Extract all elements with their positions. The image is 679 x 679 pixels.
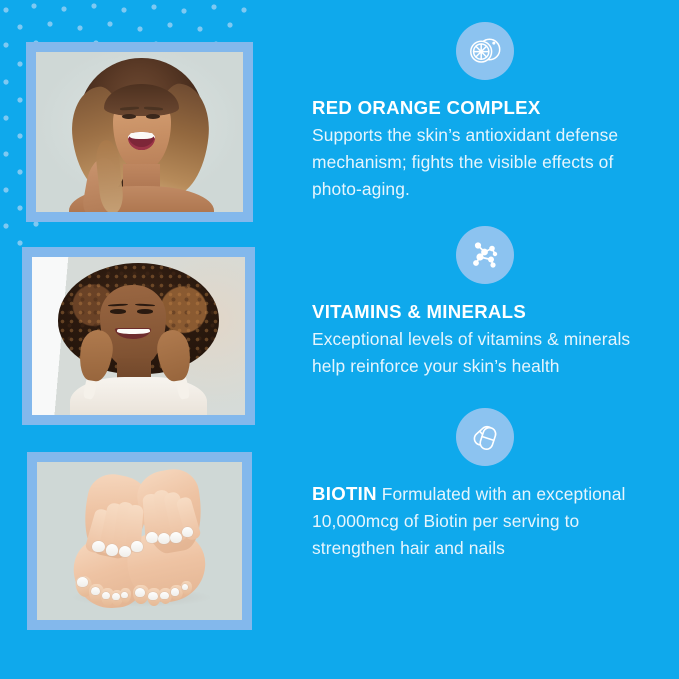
product-benefits-infographic: RED ORANGE COMPLEXSupports the skin’s an… bbox=[0, 0, 679, 679]
benefit-text-2: VITAMINS & MINERALS Exceptional levels o… bbox=[290, 298, 679, 380]
benefit-text-3: BIOTIN Formulated with an exceptional 10… bbox=[290, 480, 679, 562]
benefit-title-1: RED ORANGE COMPLEX bbox=[312, 94, 661, 121]
benefit-body-2: Exceptional levels of vitamins & mineral… bbox=[312, 329, 630, 376]
photo-frame-2 bbox=[22, 247, 255, 425]
benefit-body-1: Supports the skin’s antioxidant defense … bbox=[312, 125, 618, 199]
benefits-column: RED ORANGE COMPLEXSupports the skin’s an… bbox=[290, 0, 679, 679]
benefit-block-vitamins-minerals: VITAMINS & MINERALS Exceptional levels o… bbox=[290, 226, 679, 380]
photo-hands-and-feet bbox=[37, 462, 242, 620]
benefit-title-3: BIOTIN bbox=[312, 483, 377, 504]
benefit-block-biotin: BIOTIN Formulated with an exceptional 10… bbox=[290, 408, 679, 562]
photo-frame-3 bbox=[27, 452, 252, 630]
benefit-block-red-orange-complex: RED ORANGE COMPLEXSupports the skin’s an… bbox=[290, 22, 679, 203]
benefit-title-2: VITAMINS & MINERALS bbox=[312, 298, 661, 325]
molecule-icon bbox=[456, 226, 514, 284]
benefit-text-1: RED ORANGE COMPLEXSupports the skin’s an… bbox=[290, 94, 679, 203]
capsule-pills-icon bbox=[456, 408, 514, 466]
photo-curly-hair-woman bbox=[32, 257, 245, 415]
citrus-slice-icon bbox=[456, 22, 514, 80]
photo-laughing-woman bbox=[36, 52, 243, 212]
photo-frame-1 bbox=[26, 42, 253, 222]
